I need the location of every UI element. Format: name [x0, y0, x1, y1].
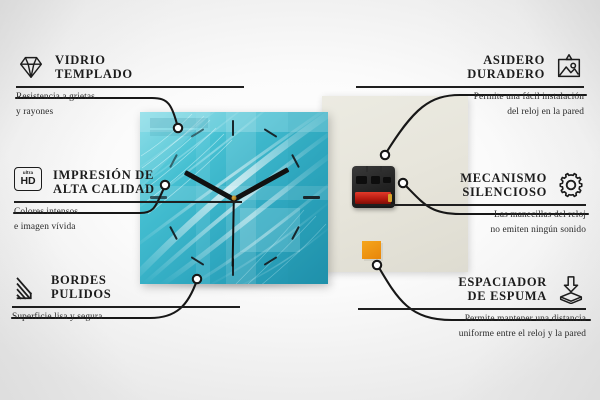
gear-icon [556, 170, 586, 200]
feature-title-line2: DE ESPUMA [458, 289, 547, 304]
picture-hanger-icon [554, 52, 584, 82]
feature-espaciador-espuma: ESPACIADOR DE ESPUMA Permite mantener un… [358, 274, 586, 340]
feature-mecanismo-silencioso: MECANISMO SILENCIOSO Las manecillas del … [358, 170, 586, 236]
feature-title-line2: TEMPLADO [55, 67, 133, 82]
feature-sub-line1: Superficie lisa y segura [12, 312, 240, 323]
foam-spacer-icon [556, 274, 586, 304]
feature-title-line1: ESPACIADOR [458, 275, 547, 290]
feature-title-line1: IMPRESIÓN DE [53, 168, 155, 183]
feature-asidero-duradero: ASIDERO DURADERO Permite una fácil insta… [356, 52, 584, 118]
feature-sub-line2: no emiten ningún sonido [358, 225, 586, 236]
feature-sub-line1: Colores intensos [14, 207, 242, 218]
feature-sub-line2: uniforme entre el reloj y la pared [358, 329, 586, 340]
feature-bordes-pulidos: BORDES PULIDOS Superficie lisa y segura [12, 272, 240, 323]
clock-marker-3 [303, 196, 320, 199]
feature-sub-line2: del reloj en la pared [356, 107, 584, 118]
feature-divider [358, 308, 586, 310]
feature-sub-line2: e imagen vívida [14, 222, 242, 233]
feature-divider [356, 86, 584, 88]
clock-marker-12 [232, 120, 234, 136]
feature-sub-line1: Permite mantener una distancia [358, 314, 586, 325]
infographic-canvas: VIDRIO TEMPLADO Resistencia a grietas y … [0, 0, 600, 400]
feature-title-line2: SILENCIOSO [460, 185, 547, 200]
feature-title-line2: PULIDOS [51, 287, 111, 302]
feature-sub-line1: Las manecillas del reloj [358, 210, 586, 221]
feature-divider [358, 204, 586, 206]
feature-sub-line1: Permite una fácil instalación [356, 92, 584, 103]
feature-title-line2: DURADERO [467, 67, 545, 82]
feature-title-line1: VIDRIO [55, 53, 133, 68]
feature-title-line1: BORDES [51, 273, 111, 288]
feature-divider [14, 201, 242, 203]
feature-sub-line1: Resistencia a grietas [16, 92, 244, 103]
ultra-hd-icon: ultra HD [14, 167, 44, 197]
polished-edges-icon [12, 272, 42, 302]
foam-spacer-pad [362, 241, 381, 259]
feature-title-line1: MECANISMO [460, 171, 547, 186]
feature-sub-line2: y rayones [16, 107, 244, 118]
feature-impresion-alta-calidad: ultra HD IMPRESIÓN DE ALTA CALIDAD Color… [14, 167, 242, 233]
hd-icon-large-text: HD [21, 176, 36, 187]
feature-title-line1: ASIDERO [467, 53, 545, 68]
feature-divider [12, 306, 240, 308]
diamond-icon [16, 52, 46, 82]
feature-vidrio-templado: VIDRIO TEMPLADO Resistencia a grietas y … [16, 52, 244, 118]
feature-divider [16, 86, 244, 88]
feature-title-line2: ALTA CALIDAD [53, 182, 155, 197]
